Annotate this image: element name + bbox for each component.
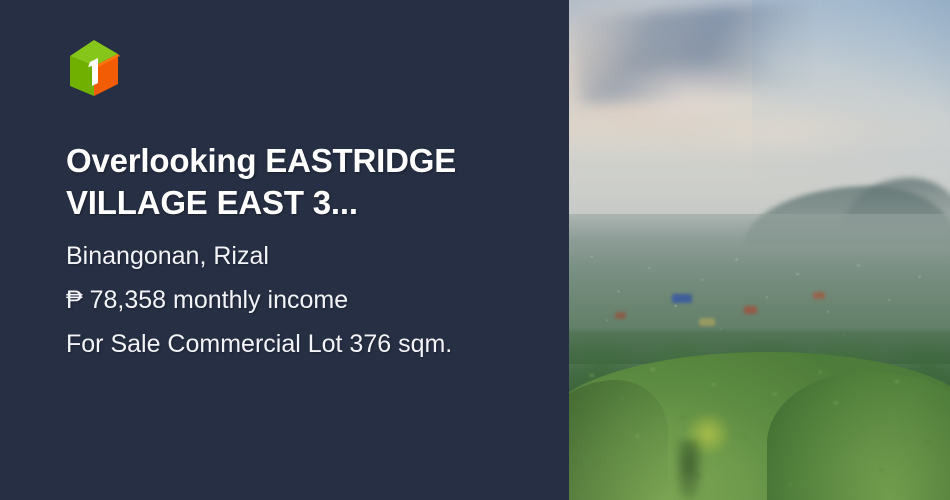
listing-price: ₱ 78,358 monthly income [66, 288, 546, 313]
red-roof-accent-c [615, 312, 626, 319]
property-photo [569, 0, 950, 500]
listing-details: For Sale Commercial Lot 376 sqm. [66, 332, 546, 357]
yellow-roof-accent [699, 318, 715, 326]
red-roof-accent-a [744, 306, 757, 314]
foliage-texture-layer [569, 348, 950, 500]
listing-title: Overlooking EASTRIDGE VILLAGE EAST 3... [66, 140, 546, 224]
blue-roof-accent [672, 294, 692, 303]
property-listing-card: Overlooking EASTRIDGE VILLAGE EAST 3... … [0, 0, 950, 500]
red-roof-accent-b [813, 292, 825, 299]
info-panel: Overlooking EASTRIDGE VILLAGE EAST 3... … [0, 0, 569, 500]
foliage-dark-gap [676, 440, 702, 500]
listing-location: Binangonan, Rizal [66, 244, 546, 269]
listing-text-block: Overlooking EASTRIDGE VILLAGE EAST 3... … [66, 140, 546, 357]
house-one-logo-icon [64, 36, 126, 98]
